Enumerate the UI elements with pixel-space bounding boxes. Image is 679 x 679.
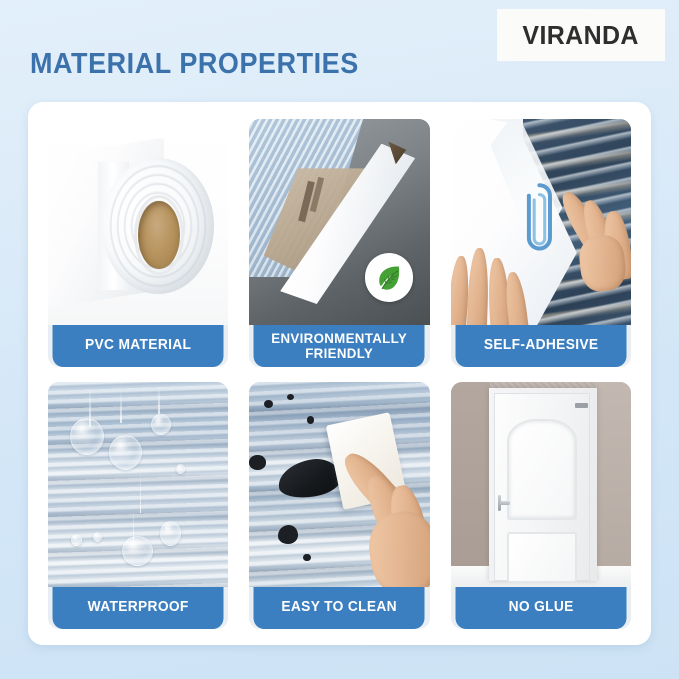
left-hand	[451, 242, 527, 324]
brand-logo: VIRANDA	[497, 9, 665, 61]
poster-header: MATERIAL PROPERTIES VIRANDA	[0, 0, 679, 102]
handle-bar	[500, 501, 510, 505]
feature-label-easy-to-clean: EASY TO CLEAN	[254, 587, 425, 629]
feature-tile-waterproof: WATERPROOF	[48, 382, 228, 630]
door-sign	[575, 403, 588, 408]
water-droplet	[151, 414, 171, 435]
page-title: MATERIAL PROPERTIES	[30, 48, 359, 81]
feature-card: PVC MATERIAL	[28, 102, 651, 645]
feature-tile-no-glue: NO GLUE	[451, 382, 631, 630]
feature-label-self-adhesive: SELF-ADHESIVE	[455, 325, 626, 367]
door-leaf	[494, 393, 590, 580]
infographic-poster: MATERIAL PROPERTIES VIRANDA PVC MATERIAL	[0, 0, 679, 679]
feature-label-environmentally-friendly: ENVIRONMENTALLY FRIENDLY	[254, 325, 425, 367]
water-streak	[120, 390, 122, 423]
feature-label-pvc-material: PVC MATERIAL	[53, 325, 224, 367]
wall-right	[595, 382, 631, 588]
door-panel-bottom	[507, 532, 577, 584]
water-droplet	[93, 532, 102, 542]
feature-tile-easy-to-clean: EASY TO CLEAN	[249, 382, 429, 630]
door-frame	[489, 388, 597, 581]
wall-left	[451, 382, 491, 588]
water-droplet	[71, 534, 82, 546]
feature-tile-pvc-material: PVC MATERIAL	[48, 119, 228, 367]
water-droplet	[109, 435, 141, 470]
brand-logo-text: VIRANDA	[523, 20, 639, 51]
cleaning-hand	[354, 435, 430, 583]
stain-spot	[307, 416, 314, 423]
stain-spot	[249, 455, 265, 469]
feature-tile-self-adhesive: SELF-ADHESIVE	[451, 119, 631, 367]
water-droplet	[176, 464, 185, 474]
feature-label-waterproof: WATERPROOF	[53, 587, 224, 629]
easy-to-clean-image	[249, 382, 429, 588]
water-droplet	[70, 418, 104, 455]
feature-grid: PVC MATERIAL	[48, 119, 631, 629]
leaf-icon	[365, 253, 414, 302]
eco-wallpaper-image	[249, 119, 429, 325]
right-hand	[566, 189, 631, 288]
water-droplet	[122, 536, 153, 567]
door-handle-icon	[498, 495, 510, 512]
no-glue-image	[451, 382, 631, 588]
self-adhesive-image	[451, 119, 631, 325]
door-panel-top	[507, 419, 577, 521]
water-streak	[140, 468, 142, 513]
pvc-roll-image	[48, 119, 228, 325]
water-streak	[158, 386, 160, 415]
stain-spot	[303, 554, 310, 561]
stain-spot	[264, 400, 273, 408]
waterproof-image	[48, 382, 228, 588]
feature-tile-environmentally-friendly: ENVIRONMENTALLY FRIENDLY	[249, 119, 429, 367]
feature-label-no-glue: NO GLUE	[455, 587, 626, 629]
water-droplet	[160, 521, 182, 546]
stain-spot	[278, 525, 298, 543]
pvc-cardboard-core	[138, 201, 179, 269]
